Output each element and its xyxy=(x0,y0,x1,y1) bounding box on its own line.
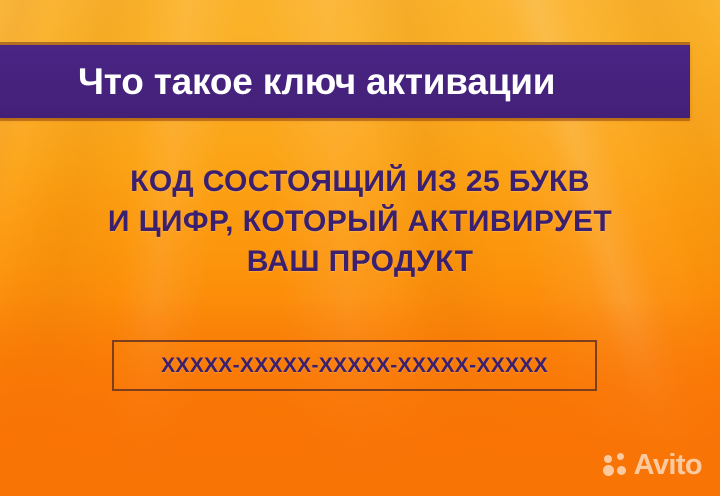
avito-wordmark: Avito xyxy=(634,451,702,480)
title-banner-band: Что такое ключ активации xyxy=(0,45,690,118)
description-line-3: ВАШ ПРОДУКТ xyxy=(0,242,720,282)
avito-dots-icon xyxy=(603,453,628,478)
promo-banner: Что такое ключ активации КОД СОСТОЯЩИЙ И… xyxy=(0,0,720,496)
activation-key-box: XXXXX-XXXXX-XXXXX-XXXXX-XXXXX xyxy=(112,340,597,391)
avito-dot-large xyxy=(603,465,614,476)
avito-dot-mid xyxy=(617,466,626,475)
avito-dot-medium xyxy=(604,455,612,463)
description-line-2: И ЦИФР, КОТОРЫЙ АКТИВИРУЕТ xyxy=(0,202,720,242)
description-line-1: КОД СОСТОЯЩИЙ ИЗ 25 БУКВ xyxy=(0,162,720,202)
description-block: КОД СОСТОЯЩИЙ ИЗ 25 БУКВ И ЦИФР, КОТОРЫЙ… xyxy=(0,162,720,282)
activation-key-value: XXXXX-XXXXX-XXXXX-XXXXX-XXXXX xyxy=(161,354,548,378)
avito-dot-small xyxy=(617,453,624,460)
avito-watermark: Avito xyxy=(603,451,702,480)
page-title: Что такое ключ активации xyxy=(78,63,555,100)
